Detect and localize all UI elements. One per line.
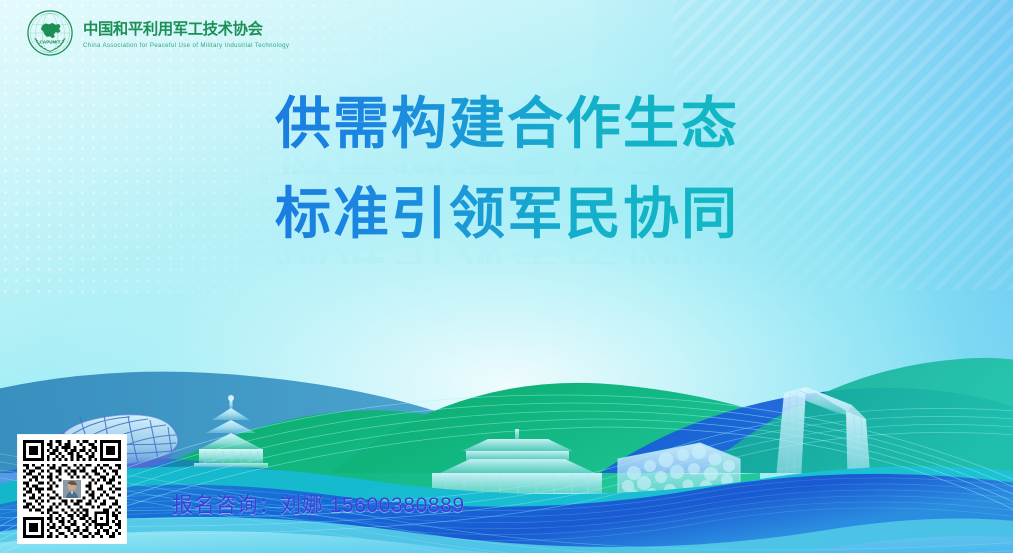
headline-line-2-svg: 标准引领军民协同 标准引领军民协同: [247, 178, 767, 264]
capumit-emblem-icon: CAPUMIT: [26, 9, 74, 57]
scenery-illustration: [0, 273, 1013, 553]
organization-name-cn-calligraphy: 中国和平利用军工技术协会: [83, 17, 273, 41]
scenery-svg: [0, 273, 1013, 553]
organization-name-cn-text: 中国和平利用军工技术协会: [83, 20, 264, 38]
organization-name-en: China Association for Peaceful Use of Mi…: [83, 42, 289, 49]
wechat-qr-code[interactable]: [18, 435, 126, 543]
poster-root: CAPUMIT 中国和平利用军工技术协会 China Association f…: [0, 0, 1013, 553]
contact-info: 报名咨询：刘娜 15600380889: [172, 489, 465, 519]
headline-block: 供需构建合作生态 供需构建合作生态: [0, 88, 1013, 264]
headline-line-1-wrap: 供需构建合作生态 供需构建合作生态: [247, 88, 767, 174]
headline-line-2-wrap: 标准引领军民协同 标准引领军民协同: [247, 178, 767, 264]
headline-line-2: 标准引领军民协同: [275, 182, 739, 247]
organization-logo-bar: CAPUMIT 中国和平利用军工技术协会 China Association f…: [26, 9, 289, 57]
logo-text-block: 中国和平利用军工技术协会 China Association for Peace…: [83, 17, 289, 49]
headline-line-1-svg: 供需构建合作生态 供需构建合作生态: [247, 88, 767, 174]
emblem-acronym-text: CAPUMIT: [40, 40, 61, 45]
headline-line-1: 供需构建合作生态: [275, 92, 739, 157]
qr-center-avatar: [62, 479, 83, 500]
qr-code-svg: [23, 440, 121, 538]
